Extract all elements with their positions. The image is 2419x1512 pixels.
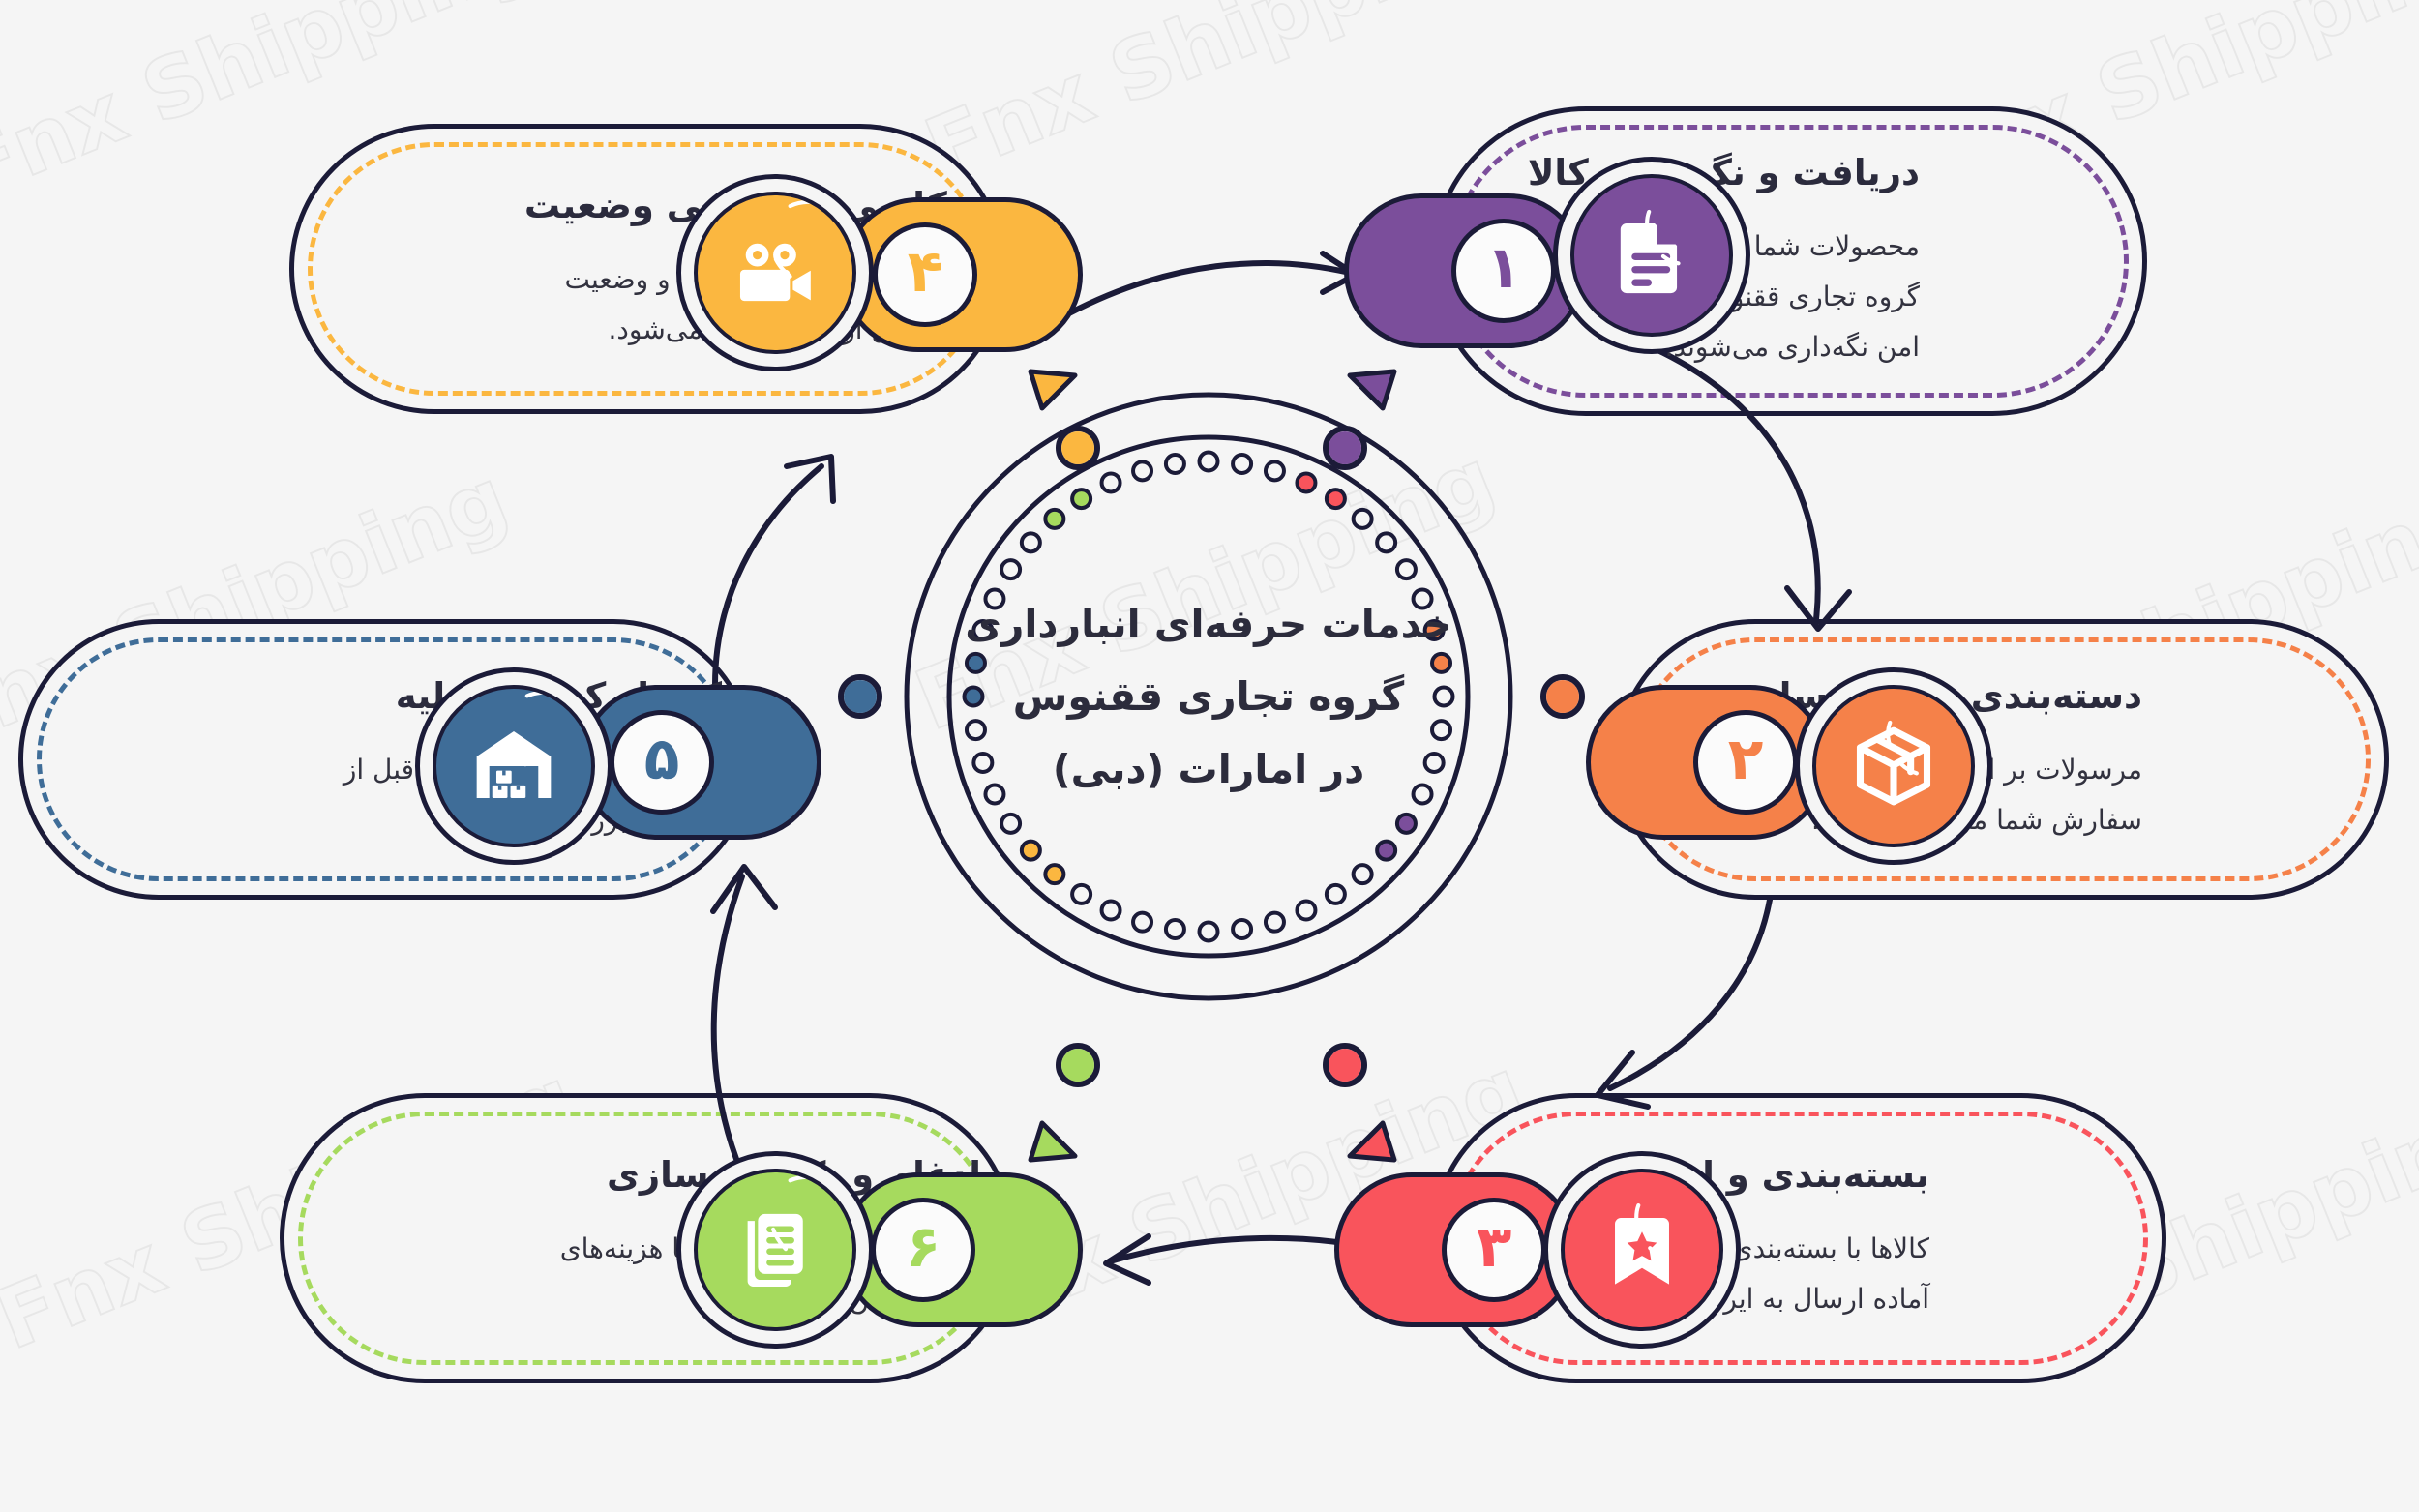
step-node-2[interactable]: ۲ bbox=[1587, 667, 1993, 890]
step-number: ۲ bbox=[1694, 710, 1799, 815]
step-badge-pill: ۵ bbox=[581, 685, 822, 840]
step-badge-pill: ۱ bbox=[1345, 193, 1587, 348]
arrow-step6-to-step5 bbox=[668, 851, 881, 1171]
documents-stack-icon bbox=[695, 1169, 857, 1331]
connector-dot-red bbox=[1324, 1043, 1368, 1087]
video-camera-icon bbox=[695, 192, 857, 354]
step-number: ۱ bbox=[1452, 219, 1557, 323]
document-icon bbox=[1571, 174, 1734, 337]
step-badge-pill: ۶ bbox=[842, 1172, 1084, 1327]
step-number: ۳ bbox=[1443, 1198, 1547, 1302]
center-text: خدمات حرفه‌ای انبارداری گروه تجاری ققنوس… bbox=[900, 387, 1519, 1006]
step-number: ۴ bbox=[874, 222, 978, 327]
step-icon-frame bbox=[1554, 157, 1751, 354]
infographic-canvas: Fnx Shipping Fnx Shipping Fnx Shipping F… bbox=[0, 0, 2419, 1512]
center-line-2: گروه تجاری ققنوس bbox=[1014, 677, 1405, 717]
connector-dot-green bbox=[1057, 1043, 1101, 1087]
step-badge-pill: ۴ bbox=[842, 197, 1084, 352]
arrow-step4-to-step1 bbox=[1064, 232, 1384, 358]
center-line-1: خدمات حرفه‌ای انبارداری bbox=[966, 605, 1453, 644]
step-node-4[interactable]: ۴ bbox=[677, 166, 1084, 389]
step-icon-frame bbox=[416, 667, 613, 865]
step-icon-frame bbox=[1544, 1151, 1742, 1349]
step-node-5[interactable]: ۵ bbox=[416, 667, 822, 890]
step-badge-pill: ۳ bbox=[1335, 1172, 1577, 1327]
step-number: ۵ bbox=[611, 710, 715, 815]
connector-dot-orange bbox=[1541, 674, 1586, 719]
arrow-step2-to-step3 bbox=[1548, 890, 1790, 1132]
step-icon-frame bbox=[677, 1151, 875, 1349]
connector-dot-yellow bbox=[1057, 426, 1101, 470]
package-box-icon bbox=[1813, 685, 1976, 847]
warehouse-icon bbox=[433, 685, 596, 847]
step-node-3[interactable]: ۳ bbox=[1335, 1151, 1742, 1374]
step-badge-pill: ۲ bbox=[1587, 685, 1829, 840]
connector-dot-blue bbox=[839, 674, 883, 719]
center-hub: خدمات حرفه‌ای انبارداری گروه تجاری ققنوس… bbox=[900, 387, 1519, 1006]
connector-dot-purple bbox=[1324, 426, 1368, 470]
center-line-3: در امارات (دبی) bbox=[1054, 750, 1365, 789]
arrow-step5-to-step4 bbox=[687, 445, 881, 697]
arrow-step1-to-step2 bbox=[1635, 339, 1887, 658]
step-icon-frame bbox=[677, 174, 875, 371]
bookmark-star-icon bbox=[1562, 1169, 1724, 1331]
step-node-1[interactable]: ۱ bbox=[1345, 157, 1751, 379]
step-number: ۶ bbox=[872, 1198, 976, 1302]
step-node-6[interactable]: ۶ bbox=[677, 1151, 1084, 1374]
step-icon-frame bbox=[1796, 667, 1993, 865]
